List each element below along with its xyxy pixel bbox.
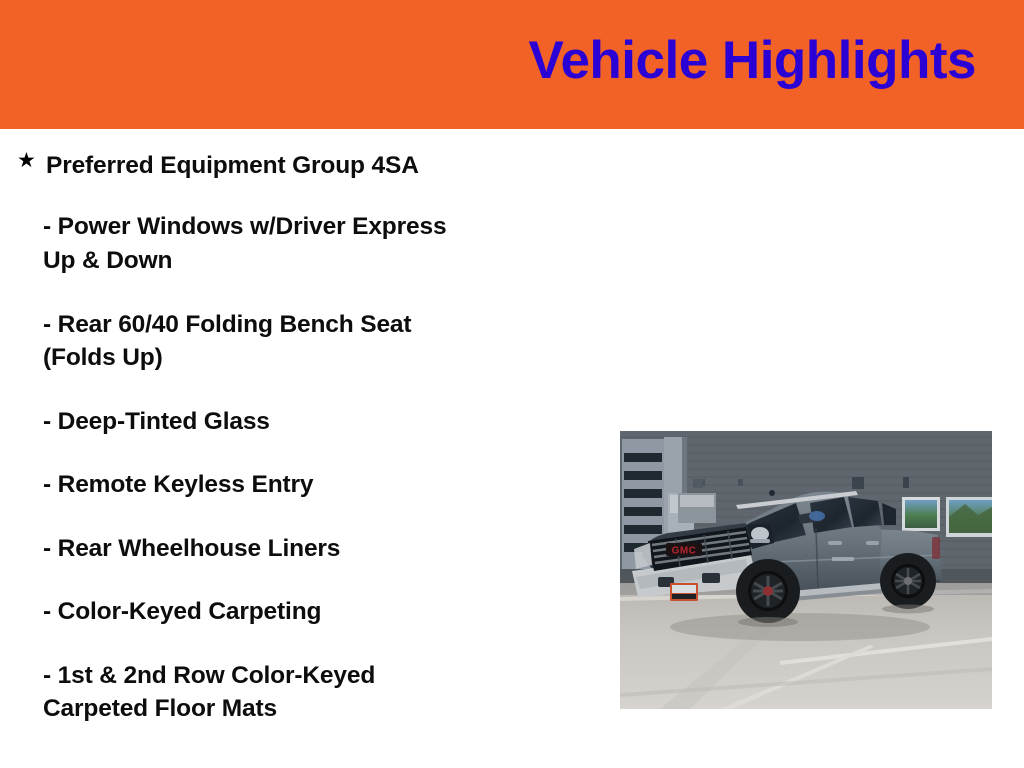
list-item-line2: Carpeted Floor Mats	[43, 692, 600, 726]
vehicle-photo-illustration: GMC	[620, 431, 992, 709]
list-item: - Remote Keyless Entry	[0, 468, 600, 502]
list-item: - Color-Keyed Carpeting	[0, 595, 600, 629]
list-item-line1: - Deep-Tinted Glass	[43, 408, 270, 435]
list-item-line1: - Remote Keyless Entry	[43, 471, 313, 498]
list-item-line1: - Color-Keyed Carpeting	[43, 598, 321, 625]
list-item: - Deep-Tinted Glass	[0, 405, 600, 439]
slide-content: ★ Preferred Equipment Group 4SA - Power …	[0, 129, 1024, 768]
list-item-line1: - Rear Wheelhouse Liners	[43, 535, 340, 562]
page-title: Vehicle Highlights	[529, 33, 976, 89]
slide-header-bar: Vehicle Highlights	[0, 0, 1024, 129]
list-item-line1: - Power Windows w/Driver Express	[43, 213, 446, 240]
list-item: - 1st & 2nd Row Color-Keyed Carpeted Flo…	[0, 659, 600, 726]
list-item-line1: - 1st & 2nd Row Color-Keyed	[43, 662, 375, 689]
list-item-line2: (Folds Up)	[43, 341, 600, 375]
equipment-group-heading: Preferred Equipment Group 4SA	[0, 129, 419, 180]
vehicle-highlights-list: ★ Preferred Equipment Group 4SA - Power …	[0, 129, 600, 726]
svg-text:GMC: GMC	[672, 546, 697, 557]
vehicle-photo: GMC	[620, 431, 992, 709]
list-item-line2: Up & Down	[43, 244, 600, 278]
list-item: - Power Windows w/Driver Express Up & Do…	[0, 210, 600, 277]
star-icon: ★	[17, 150, 39, 171]
list-item-heading: ★ Preferred Equipment Group 4SA	[0, 129, 600, 180]
list-item-line1: - Rear 60/40 Folding Bench Seat	[43, 311, 411, 338]
list-item: - Rear Wheelhouse Liners	[0, 532, 600, 566]
list-item: - Rear 60/40 Folding Bench Seat (Folds U…	[0, 308, 600, 375]
